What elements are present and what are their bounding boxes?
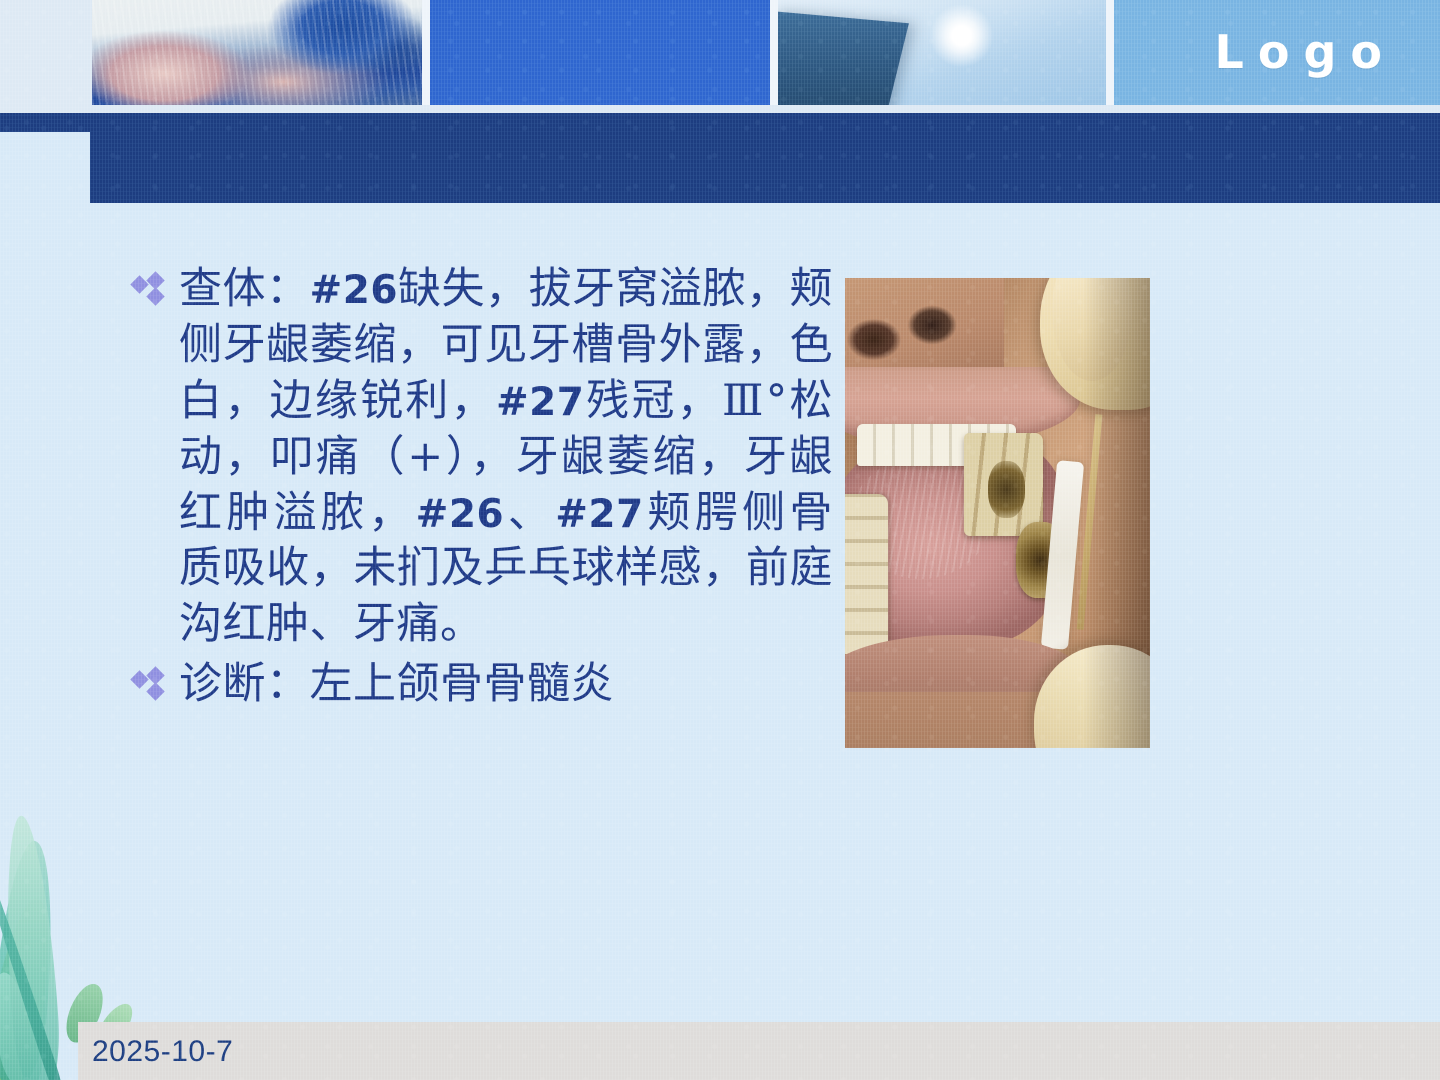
navy-divider-strip [0, 113, 1440, 132]
bullet-item: 诊断：左上颌骨骨髓炎 [133, 657, 833, 713]
skyscrapers-photo [778, 0, 1106, 105]
tile-divider [1106, 0, 1114, 105]
logo-text: Logo [1215, 29, 1396, 75]
tooth-code: #26 [416, 492, 504, 537]
photo-caries-lesion [988, 461, 1025, 517]
solid-blue-block [430, 0, 770, 105]
diamond-cluster-icon [133, 274, 179, 322]
photo-left-arch-teeth [845, 494, 888, 654]
intraoral-clinical-photograph [845, 278, 1150, 748]
tooth-code: #27 [555, 492, 643, 537]
footer-bar [78, 1022, 1440, 1080]
tooth-code: #27 [496, 380, 584, 425]
bullet-text: 查体：#26缺失，拔牙窝溢脓，颊侧牙龈萎缩，可见牙槽骨外露，色白，边缘锐利，#2… [179, 262, 833, 653]
header-band: Logo [0, 0, 1440, 114]
slide-root: Logo 查体：#26缺失，拔牙窝溢脓，颊侧牙龈萎缩，可见牙槽骨外露，色白，边缘… [0, 0, 1440, 1080]
footer-date: 2025-10-7 [92, 1035, 233, 1069]
tooth-code: #26 [310, 268, 398, 313]
slide-body: 查体：#26缺失，拔牙窝溢脓，颊侧牙龈萎缩，可见牙槽骨外露，色白，边缘锐利，#2… [133, 262, 833, 717]
text-segment: 、 [504, 488, 555, 538]
text-segment: 诊断：左上颌骨骨髓炎 [179, 659, 614, 709]
title-placeholder-block [90, 131, 1440, 203]
diamond-cluster-icon [133, 669, 179, 717]
bullet-text: 诊断：左上颌骨骨髓炎 [179, 657, 833, 713]
tile-divider [422, 0, 430, 105]
photo-shadow [1083, 278, 1150, 748]
logo-plate: Logo [1114, 0, 1440, 105]
bullet-item: 查体：#26缺失，拔牙窝溢脓，颊侧牙龈萎缩，可见牙槽骨外露，色白，边缘锐利，#2… [133, 262, 833, 653]
text-segment: 查体： [179, 264, 310, 314]
hands-on-keyboard-photo [92, 0, 422, 105]
tile-divider [770, 0, 778, 105]
